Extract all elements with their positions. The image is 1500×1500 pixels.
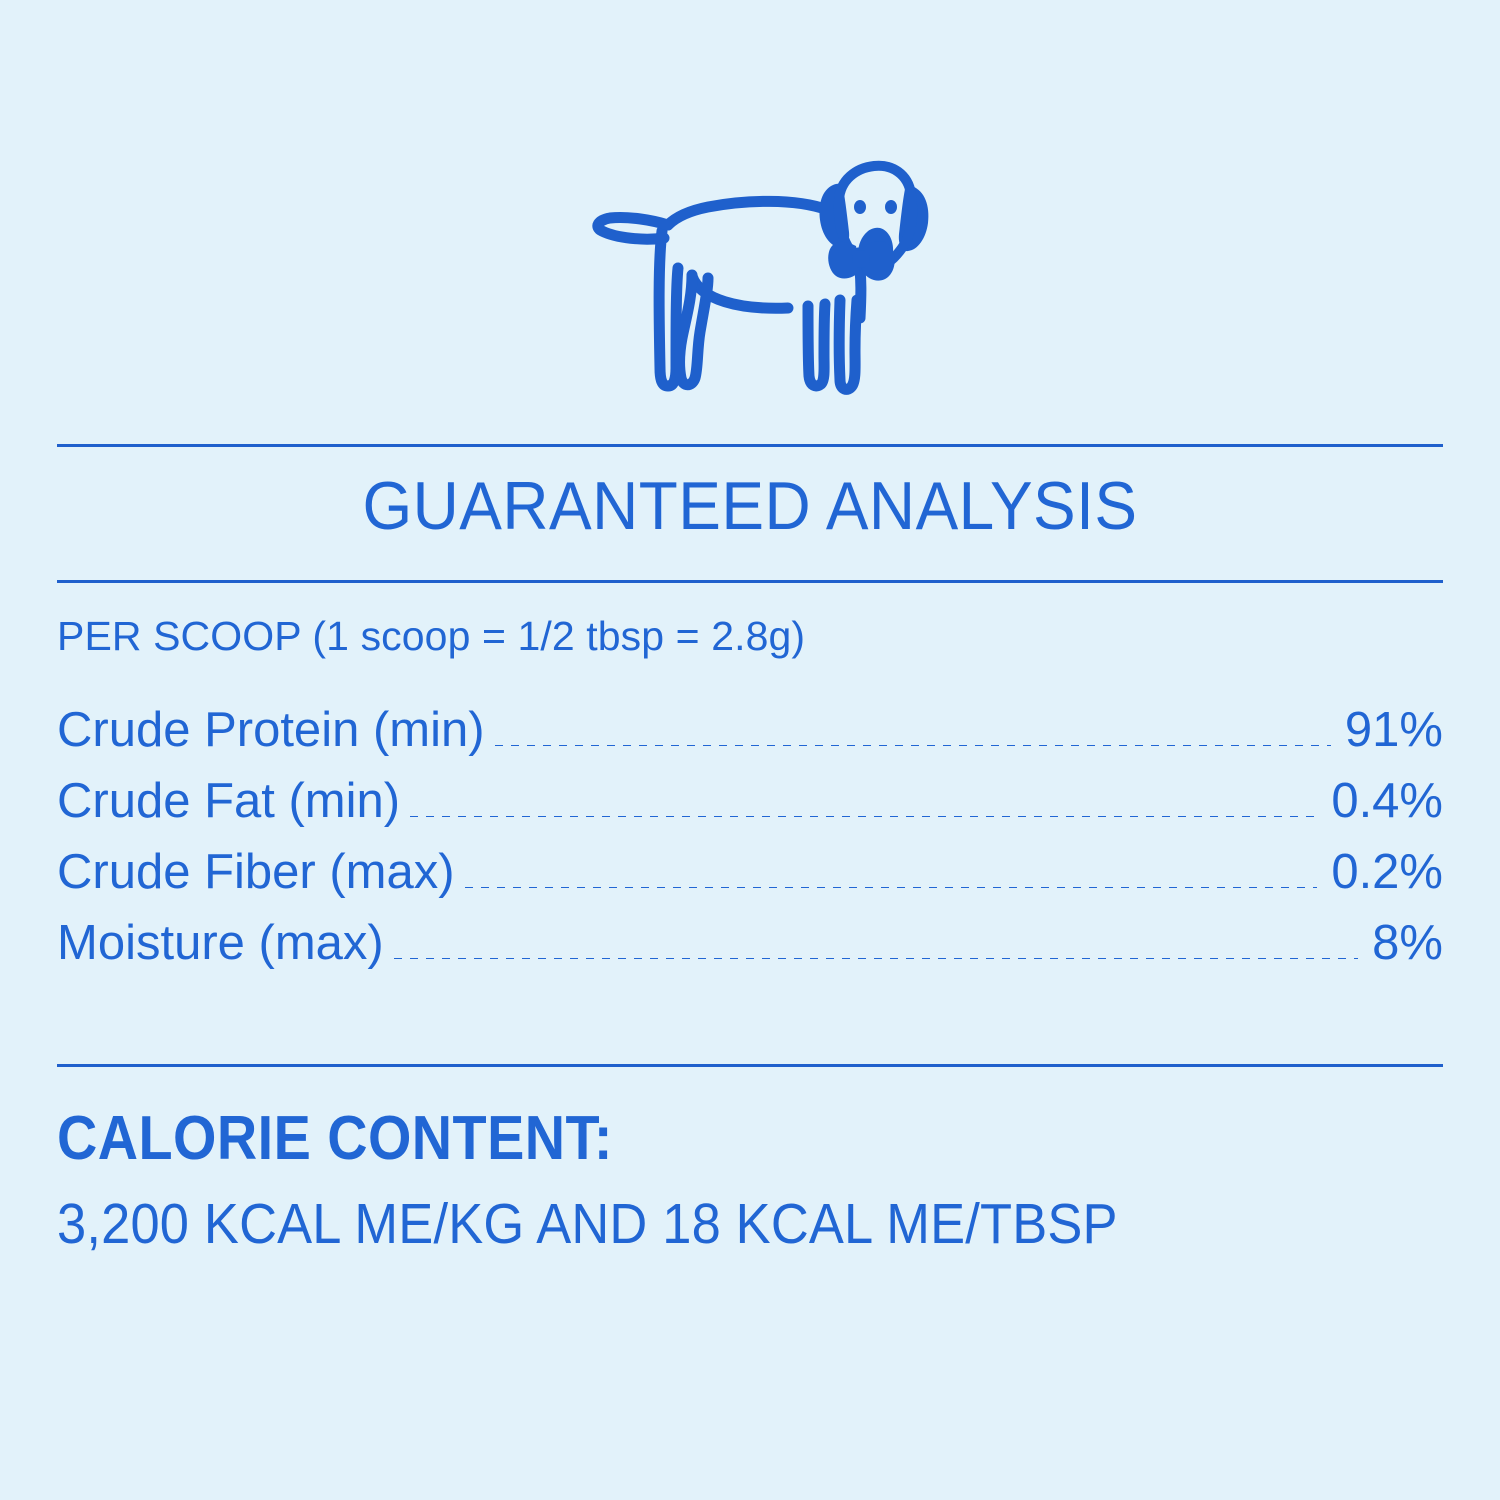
leader-dots	[495, 745, 1331, 746]
analysis-row: Crude Protein (min) 91%	[57, 706, 1443, 777]
nutrient-value: 0.2%	[1331, 848, 1443, 897]
nutrient-name: Crude Fiber (max)	[57, 848, 455, 897]
dog-eye-left	[854, 200, 866, 214]
leader-dots	[465, 887, 1318, 888]
nutrient-name: Moisture (max)	[57, 919, 384, 968]
page-title: GUARANTEED ANALYSIS	[99, 472, 1402, 540]
leader-dots	[394, 958, 1358, 959]
divider-top	[57, 444, 1443, 447]
dog-with-bowtie-icon	[540, 128, 960, 428]
leader-dots	[410, 816, 1317, 817]
dog-eye-right	[885, 200, 897, 214]
nutrient-name: Crude Protein (min)	[57, 706, 485, 755]
calorie-content-heading: CALORIE CONTENT:	[57, 1108, 613, 1170]
analysis-row: Crude Fiber (max) 0.2%	[57, 848, 1443, 919]
dog-illustration	[0, 128, 1500, 428]
nutrient-value: 8%	[1372, 919, 1443, 968]
guaranteed-analysis-label: GUARANTEED ANALYSIS PER SCOOP (1 scoop =…	[0, 0, 1500, 1500]
serving-note: PER SCOOP (1 scoop = 1/2 tbsp = 2.8g)	[57, 616, 805, 657]
analysis-rows: Crude Protein (min) 91% Crude Fat (min) …	[57, 706, 1443, 990]
analysis-row: Crude Fat (min) 0.4%	[57, 777, 1443, 848]
nutrient-value: 0.4%	[1331, 777, 1443, 826]
nutrient-value: 91%	[1345, 706, 1443, 755]
divider-middle	[57, 580, 1443, 583]
analysis-row: Moisture (max) 8%	[57, 919, 1443, 990]
divider-bottom	[57, 1064, 1443, 1067]
calorie-content-value: 3,200 KCAL ME/KG AND 18 KCAL ME/TBSP	[57, 1196, 1118, 1253]
nutrient-name: Crude Fat (min)	[57, 777, 400, 826]
